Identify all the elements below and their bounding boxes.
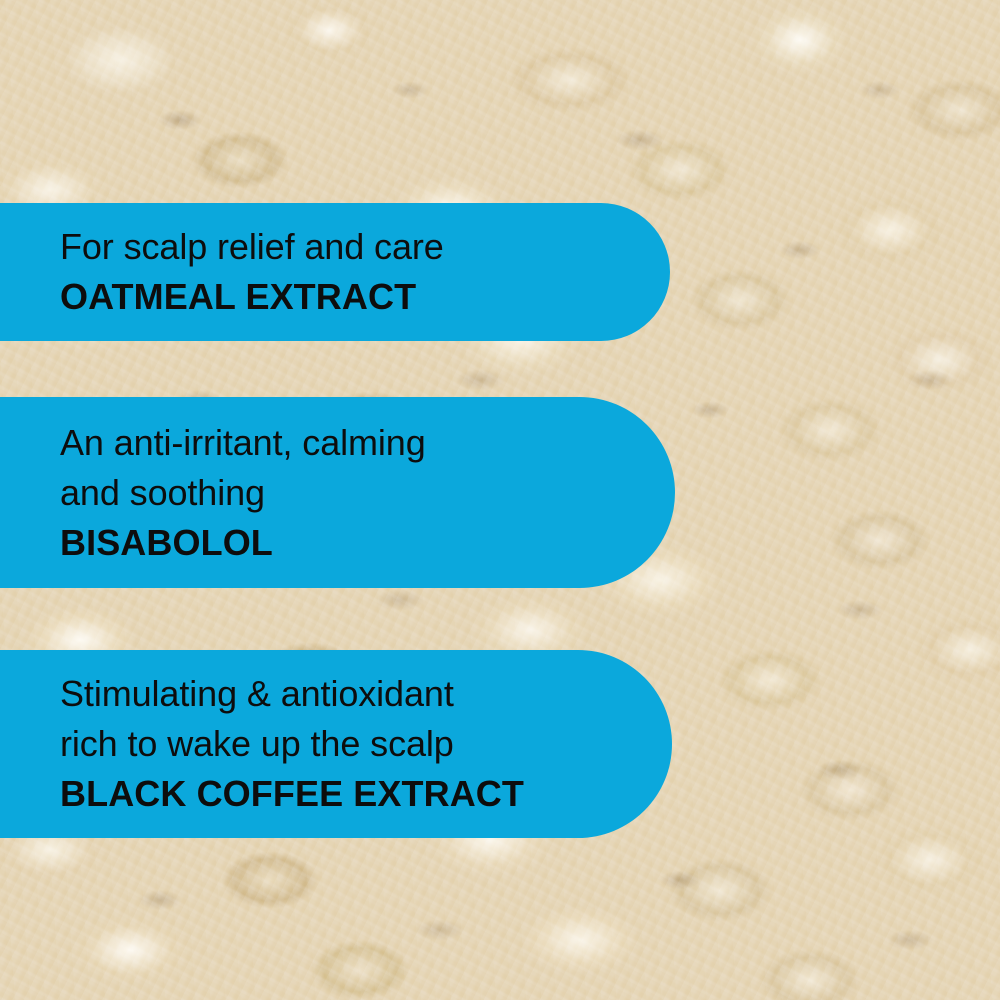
banner-description-line: For scalp relief and care — [60, 222, 630, 272]
banner-ingredient-name: OATMEAL EXTRACT — [60, 272, 630, 322]
ingredient-banner-oatmeal-extract: For scalp relief and care OATMEAL EXTRAC… — [0, 203, 670, 341]
ingredient-banner-black-coffee-extract: Stimulating & antioxidant rich to wake u… — [0, 650, 672, 838]
banner-ingredient-name: BISABOLOL — [60, 518, 635, 568]
banner-description-line: Stimulating & antioxidant — [60, 669, 632, 719]
banner-description-line: and soothing — [60, 468, 635, 518]
infographic-canvas: For scalp relief and care OATMEAL EXTRAC… — [0, 0, 1000, 1000]
banner-description-line: An anti-irritant, calming — [60, 418, 635, 468]
ingredient-banner-bisabolol: An anti-irritant, calming and soothing B… — [0, 397, 675, 588]
banner-description-line: rich to wake up the scalp — [60, 719, 632, 769]
banner-ingredient-name: BLACK COFFEE EXTRACT — [60, 769, 632, 819]
